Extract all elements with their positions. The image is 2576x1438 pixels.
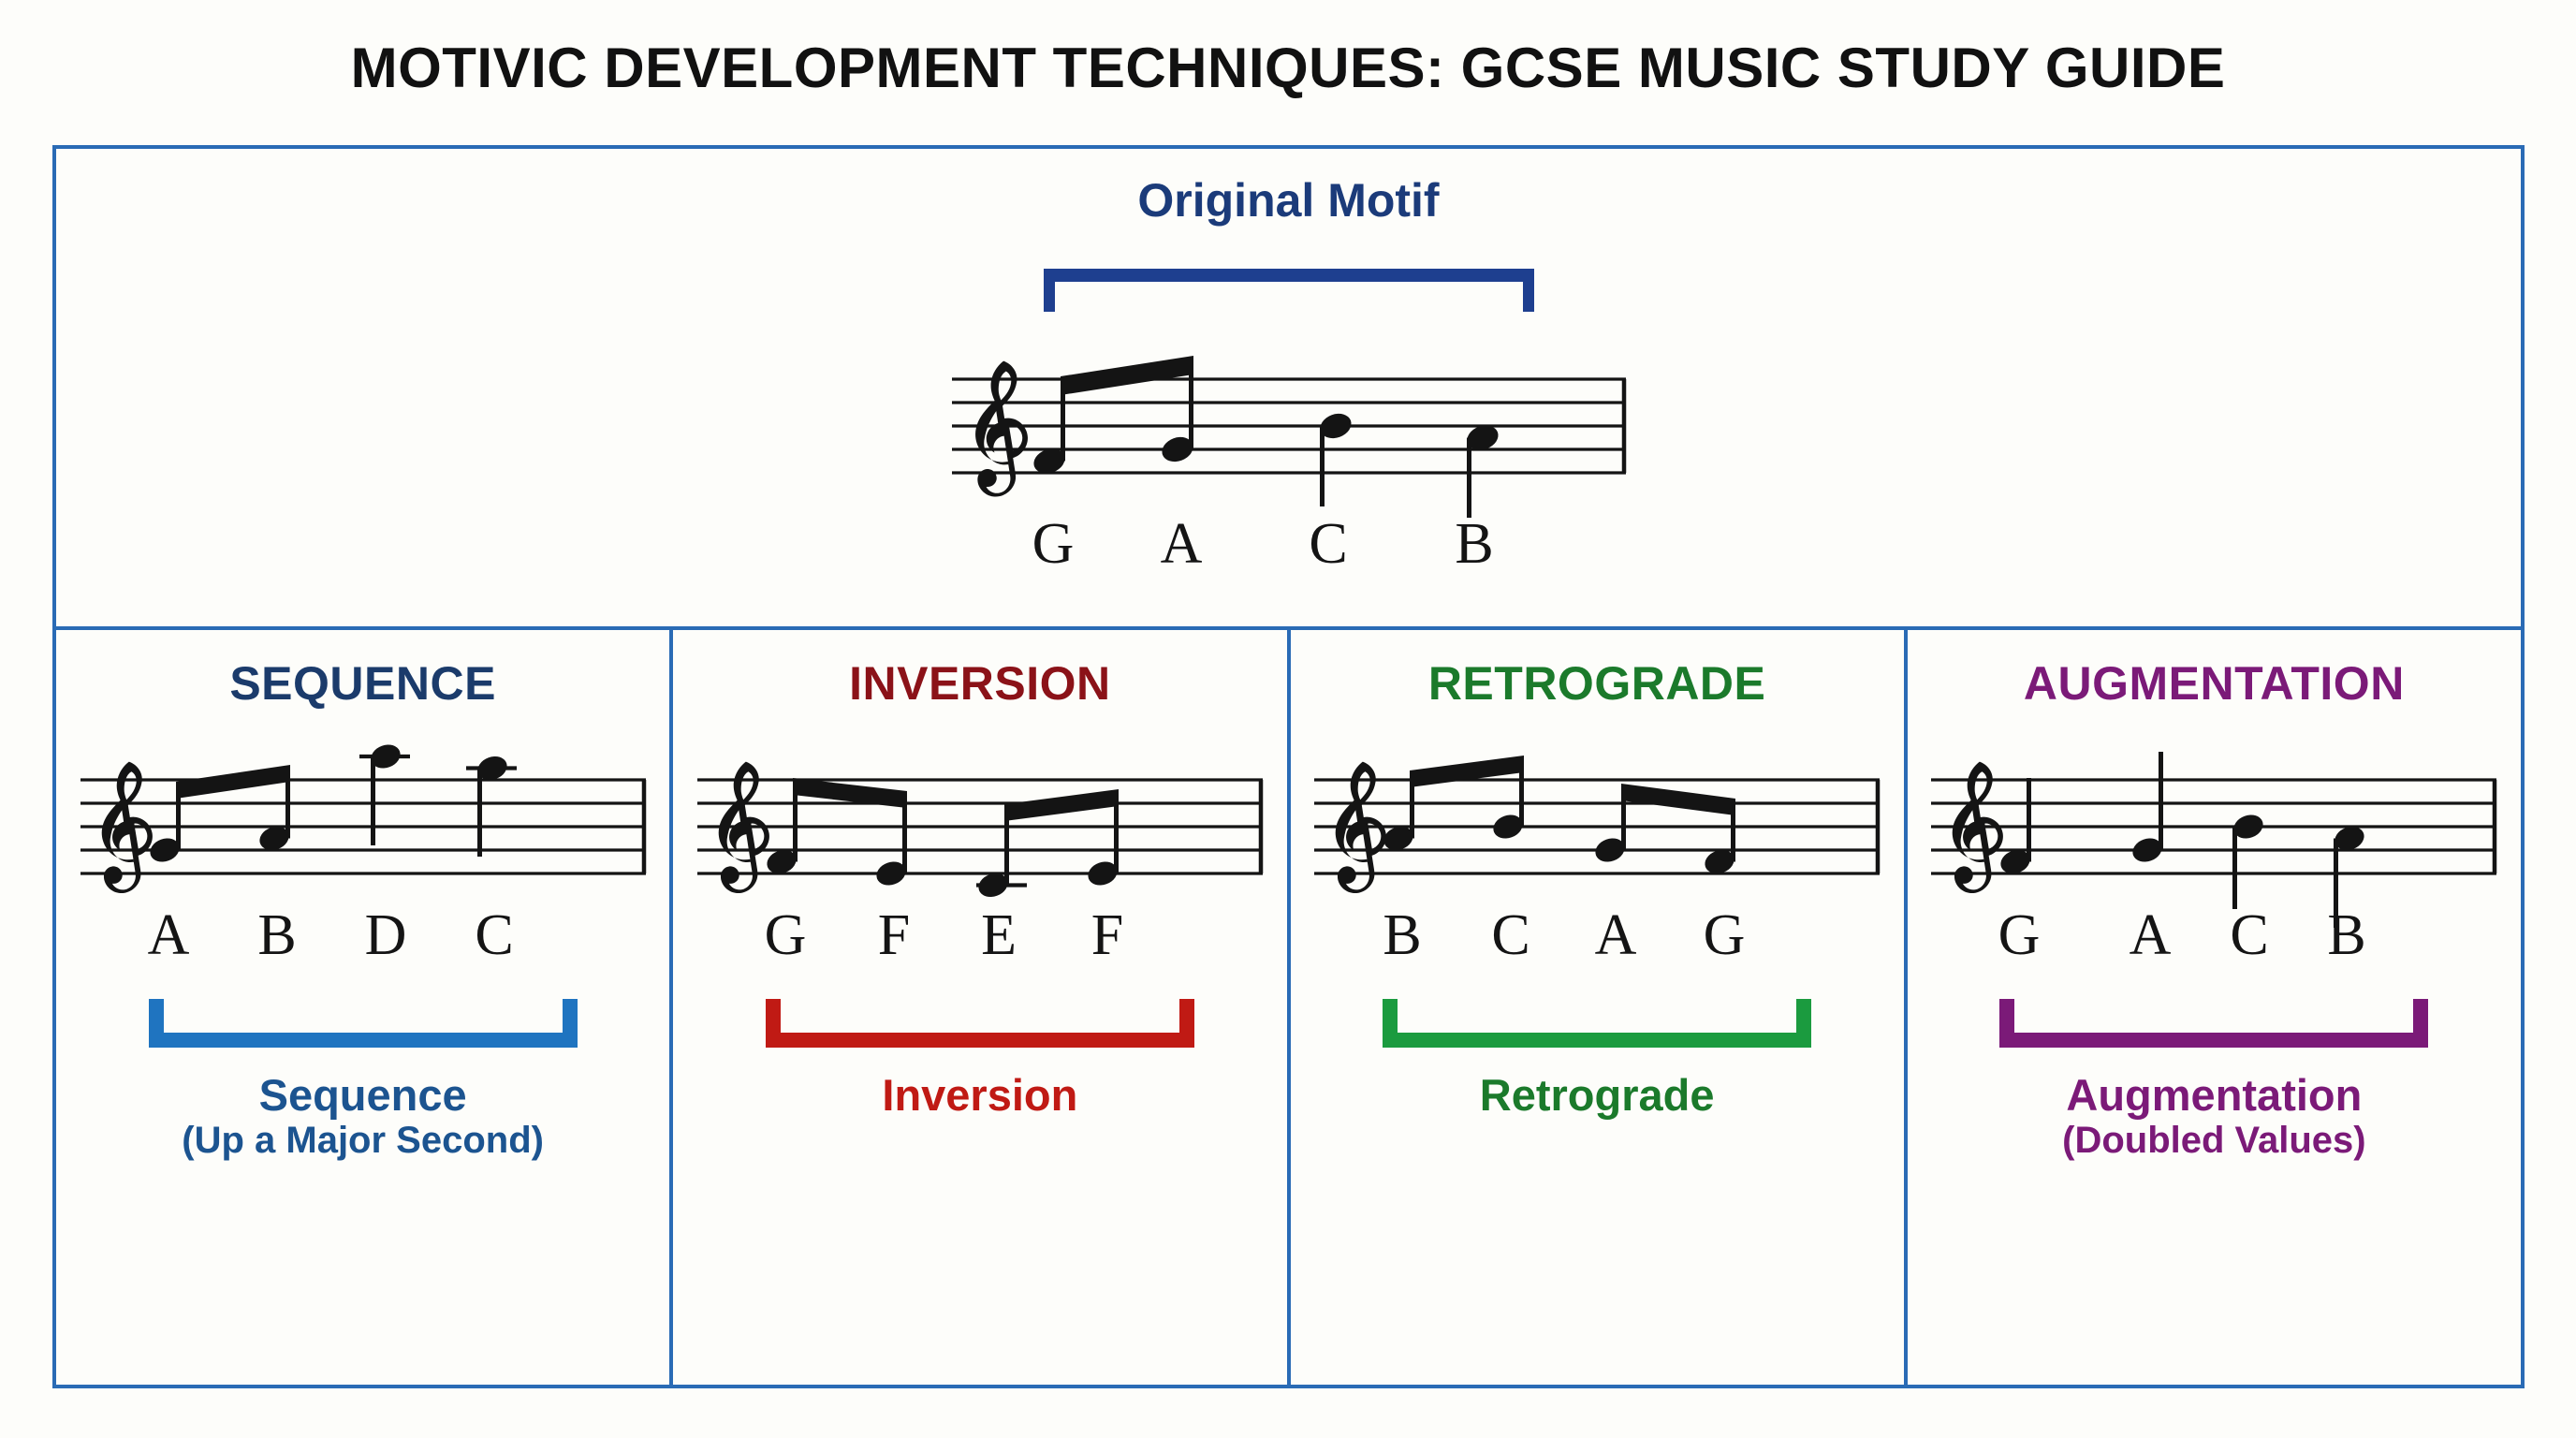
stave-augmentation: G A C B <box>1924 724 2504 995</box>
beam <box>176 765 290 799</box>
caption-main: Augmentation <box>2066 1070 2362 1120</box>
treble-clef-icon <box>975 361 1028 497</box>
note-letter: C <box>1309 512 1347 576</box>
panel-heading-augmentation: AUGMENTATION <box>1908 656 2521 711</box>
note-letter: C <box>2231 903 2269 967</box>
caption-augmentation: Augmentation (Doubled Values) <box>1908 1070 2521 1162</box>
page-title: MOTIVIC DEVELOPMENT TECHNIQUES: GCSE MUS… <box>0 36 2576 100</box>
caption-sub: (Doubled Values) <box>1908 1120 2521 1162</box>
note-letter: D <box>364 903 406 967</box>
note-letter: A <box>1160 512 1202 576</box>
bracket-inversion <box>760 993 1200 1053</box>
bracket-shape-up <box>1999 999 2428 1048</box>
bracket-shape-up <box>149 999 578 1048</box>
panel-heading-inversion: INVERSION <box>673 656 1286 711</box>
original-motif-section: Original Motif <box>56 149 2521 630</box>
note-letter: A <box>147 903 189 967</box>
note-letter: G <box>1704 903 1746 967</box>
panel-heading-retrograde: RETROGRADE <box>1291 656 1904 711</box>
note-group-augmented <box>1998 752 2367 928</box>
note-letter: B <box>1455 512 1493 576</box>
stave-inversion: G F E F <box>690 724 1270 995</box>
note-letter: B <box>257 903 296 967</box>
caption-sequence: Sequence (Up a Major Second) <box>56 1070 669 1162</box>
original-motif-heading: Original Motif <box>56 173 2521 227</box>
note-letter: G <box>1998 903 2041 967</box>
caption-main: Sequence <box>259 1070 467 1120</box>
note-group-beamed-1 <box>1030 356 1196 477</box>
note-letter: E <box>981 903 1017 967</box>
caption-inversion: Inversion <box>673 1070 1286 1120</box>
bracket-shape-up <box>1383 999 1811 1048</box>
note-letter: F <box>878 903 910 967</box>
bracket-augmentation <box>1994 993 2434 1053</box>
note-group-beamed-a <box>1381 756 1526 854</box>
note-letter: C <box>475 903 513 967</box>
note-letter: G <box>1032 512 1074 576</box>
stave-sequence: A B D C <box>73 724 653 995</box>
caption-sub: (Up a Major Second) <box>56 1120 669 1162</box>
caption-retrograde: Retrograde <box>1291 1070 1904 1120</box>
note-letter: G <box>764 903 806 967</box>
caption-main: Inversion <box>882 1070 1077 1120</box>
bracket-retrograde <box>1377 993 1817 1053</box>
note-group-beamed-b <box>1592 784 1737 877</box>
note-letter: A <box>2130 903 2172 967</box>
note-letter: F <box>1091 903 1123 967</box>
panel-augmentation: AUGMENTATION <box>1908 630 2521 1388</box>
original-motif-bracket <box>1036 261 1542 319</box>
note-group-beamed-b <box>975 789 1120 901</box>
beam <box>1621 784 1735 815</box>
panel-inversion: INVERSION <box>673 630 1290 1388</box>
note-group-ledger <box>359 741 517 857</box>
note-letter: C <box>1491 903 1529 967</box>
panel-sequence: SEQUENCE <box>56 630 673 1388</box>
technique-panels: SEQUENCE <box>56 630 2521 1388</box>
original-motif-stave: G A C B <box>943 323 1635 604</box>
staff-lines <box>1314 780 1880 873</box>
panel-retrograde: RETROGRADE <box>1291 630 1908 1388</box>
note-letter: A <box>1595 903 1637 967</box>
panel-heading-sequence: SEQUENCE <box>56 656 669 711</box>
stave-retrograde: B C A G <box>1307 724 1887 995</box>
beam <box>1061 356 1193 395</box>
beam <box>1004 789 1119 821</box>
note-letter: B <box>2328 903 2366 967</box>
caption-main: Retrograde <box>1480 1070 1715 1120</box>
diagram-frame: Original Motif <box>52 145 2525 1388</box>
bracket-shape-up <box>766 999 1194 1048</box>
note-letter: B <box>1383 903 1421 967</box>
beam <box>1410 756 1524 787</box>
bracket-shape-down <box>1044 269 1534 312</box>
bracket-sequence <box>143 993 583 1053</box>
